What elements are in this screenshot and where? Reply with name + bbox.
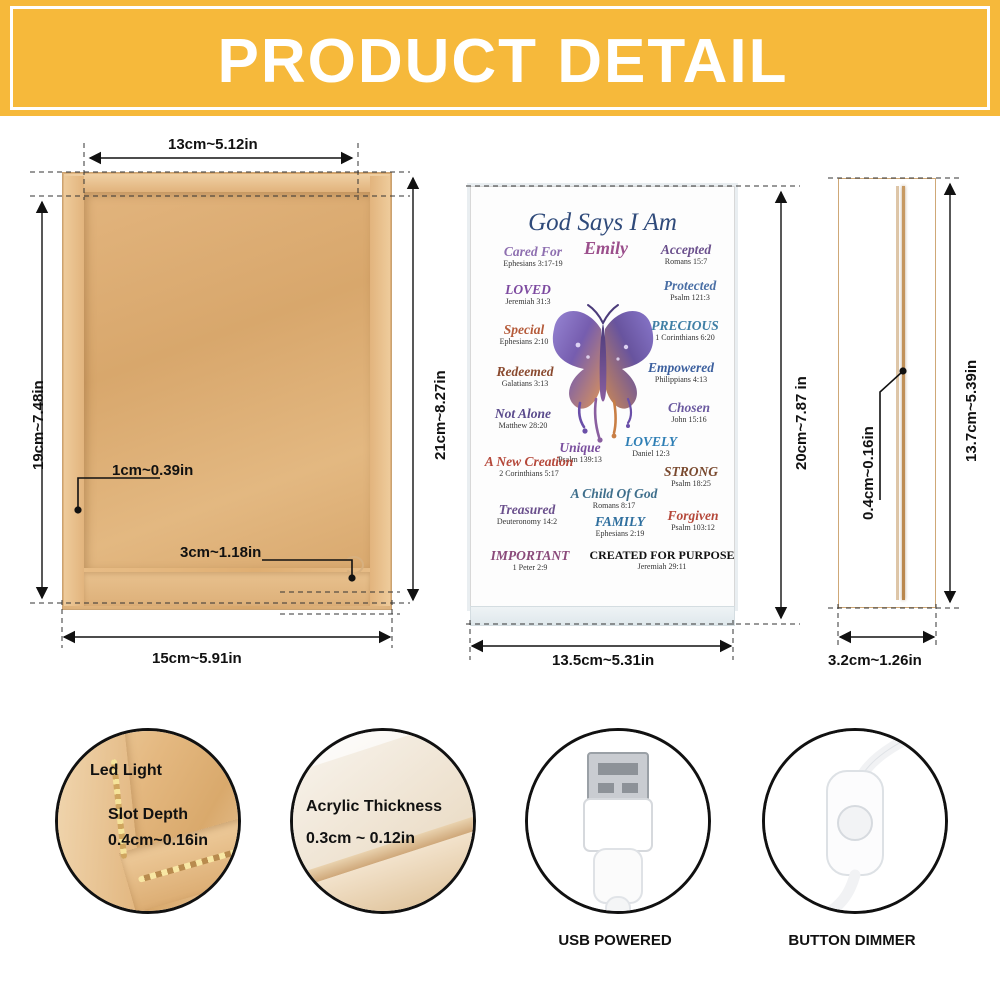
page-title: PRODUCT DETAIL bbox=[13, 9, 993, 113]
word-forgiven: Forgiven Psalm 103:12 bbox=[653, 509, 733, 533]
panel-footer: CREATED FOR PURPOSE Jeremiah 29:11 bbox=[589, 549, 735, 571]
dim-box-right-height: 21cm~8.27in bbox=[432, 370, 449, 460]
caption-button-dimmer: BUTTON DIMMER bbox=[752, 932, 952, 949]
dim-panel-height: 20cm~7.87 in bbox=[793, 376, 810, 470]
box-bottom-rail bbox=[84, 572, 370, 606]
word-cared-for: Cared For Ephesians 3:17-19 bbox=[483, 245, 583, 269]
detail-circle-usb bbox=[525, 728, 711, 914]
word-redeemed: Redeemed Galatians 3:13 bbox=[475, 365, 575, 389]
inline-switch-icon bbox=[765, 731, 945, 911]
dim-side-height: 13.7cm~5.39in bbox=[963, 360, 980, 462]
label-acrylic-thickness: Acrylic Thickness bbox=[306, 798, 442, 816]
box-left-rail bbox=[64, 176, 84, 606]
callout-side-slot: 0.4cm~0.16in bbox=[860, 426, 877, 520]
label-slot-depth-value: 0.4cm~0.16in bbox=[108, 832, 208, 850]
side-piece-groove bbox=[902, 186, 905, 600]
label-slot-depth: Slot Depth bbox=[108, 806, 188, 824]
word-not-alone: Not Alone Matthew 28:20 bbox=[475, 407, 571, 431]
side-piece-body bbox=[838, 178, 936, 608]
word-chosen: Chosen John 15:16 bbox=[649, 401, 729, 425]
word-lovely: LOVELY Daniel 12:3 bbox=[611, 435, 691, 459]
word-treasured: Treasured Deuteronomy 14:2 bbox=[473, 503, 581, 527]
dim-side-width: 3.2cm~1.26in bbox=[828, 652, 922, 669]
word-loved: LOVED Jeremiah 31:3 bbox=[485, 283, 571, 307]
box-cord-hole bbox=[344, 556, 364, 574]
word-family: FAMILY Ephesians 2:19 bbox=[575, 515, 665, 539]
dim-box-top-width: 13cm~5.12in bbox=[168, 136, 258, 153]
word-special: Special Ephesians 2:10 bbox=[479, 323, 569, 347]
acrylic-panel-base bbox=[470, 606, 735, 626]
header-banner: PRODUCT DETAIL bbox=[0, 0, 1000, 116]
word-precious: PRECIOUS 1 Corinthians 6:20 bbox=[637, 319, 733, 343]
acrylic-panel-illustration: God Says I Am bbox=[470, 186, 735, 608]
detail-circle-acrylic-thickness bbox=[290, 728, 476, 914]
label-led-light: Led Light bbox=[90, 762, 162, 780]
header-banner-border: PRODUCT DETAIL bbox=[10, 6, 990, 110]
box-top-rail bbox=[64, 174, 390, 192]
side-piece-groove-shadow bbox=[896, 186, 899, 600]
label-acrylic-thickness-value: 0.3cm ~ 0.12in bbox=[306, 830, 415, 848]
callout-box-depth: 3cm~1.18in bbox=[180, 544, 261, 561]
word-accepted: Accepted Romans 15:7 bbox=[641, 243, 731, 267]
box-inner-cavity bbox=[84, 192, 370, 568]
word-a-new-creation: A New Creation 2 Corinthians 5:17 bbox=[473, 455, 585, 479]
side-piece-illustration bbox=[838, 178, 936, 608]
callout-box-thickness: 1cm~0.39in bbox=[112, 462, 193, 479]
dim-box-bottom-width: 15cm~5.91in bbox=[152, 650, 242, 667]
caption-usb-powered: USB POWERED bbox=[515, 932, 715, 949]
word-protected: Protected Psalm 121:3 bbox=[647, 279, 733, 303]
box-right-rail bbox=[370, 176, 390, 606]
panel-title: God Says I Am bbox=[471, 209, 734, 237]
usb-connector-icon bbox=[528, 731, 708, 911]
word-strong: STRONG Psalm 18:25 bbox=[651, 465, 731, 489]
detail-circle-button-dimmer bbox=[762, 728, 948, 914]
dim-panel-width: 13.5cm~5.31in bbox=[552, 652, 654, 669]
dim-box-left-height: 19cm~7.48in bbox=[30, 380, 47, 470]
word-empowered: Empowered Philippians 4:13 bbox=[631, 361, 731, 385]
word-important: IMPORTANT 1 Peter 2:9 bbox=[477, 549, 583, 573]
